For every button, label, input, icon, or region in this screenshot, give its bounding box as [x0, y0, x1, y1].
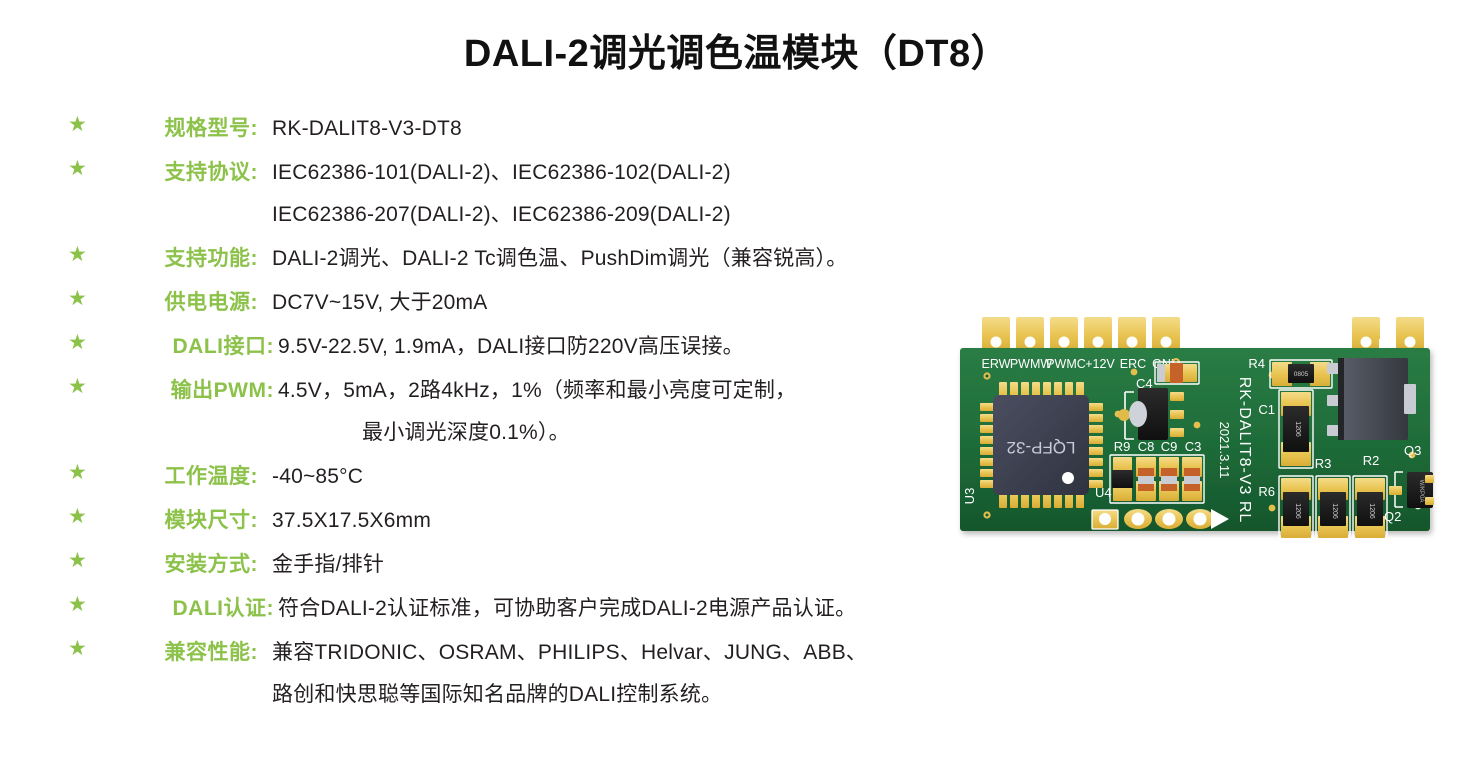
spec-value: 符合DALI-2认证标准，可协助客户完成DALI-2电源产品认证。	[274, 592, 968, 626]
spec-value-line: 37.5X17.5X6mm	[272, 504, 968, 538]
silk-board-date: 2021.3.11	[1217, 422, 1232, 479]
spec-value-line: 4.5V，5mA，2路4kHz，1%（频率和最小亮度可定制，	[278, 374, 968, 408]
pin-label-pwmc: PWMC	[1046, 357, 1086, 371]
star-bullet-icon: ★	[68, 286, 98, 309]
page-title: DALI-2调光调色温模块（DT8）	[0, 22, 1473, 77]
resistor-code-r3: 1206	[1331, 503, 1338, 519]
spec-row: ★供电电源:DC7V~15V, 大于20mA	[68, 286, 968, 320]
pcb-component-q2-sot23: W/KP0A	[1389, 472, 1434, 508]
star-bullet-icon: ★	[68, 112, 98, 135]
designator-r3: R3	[1315, 456, 1332, 471]
spec-value: 金手指/排针	[258, 548, 968, 582]
spec-row: ★安装方式:金手指/排针	[68, 548, 968, 582]
spec-label: 兼容性能:	[98, 636, 258, 670]
spec-label: 支持协议:	[98, 156, 258, 190]
spec-value: DALI-2调光、DALI-2 Tc调色温、PushDim调光（兼容锐高）。	[258, 242, 968, 276]
spec-value-line: IEC62386-101(DALI-2)、IEC62386-102(DALI-2…	[272, 156, 968, 190]
pcb-component-q3-relay	[1327, 358, 1416, 440]
star-bullet-icon: ★	[68, 330, 98, 353]
spec-label: 供电电源:	[98, 286, 258, 320]
spec-value-line: 兼容TRIDONIC、OSRAM、PHILIPS、Helvar、JUNG、ABB…	[272, 636, 968, 670]
pcb-product-image: ERW PWMW PWMC +12V ERC GND DA	[952, 300, 1438, 550]
star-bullet-icon: ★	[68, 156, 98, 179]
spec-row: ★规格型号:RK-DALIT8-V3-DT8	[68, 112, 968, 146]
pcb-component-c4-group	[1155, 362, 1199, 384]
spec-label: 工作温度:	[98, 460, 258, 494]
spec-value-line: IEC62386-207(DALI-2)、IEC62386-209(DALI-2…	[272, 198, 968, 232]
designator-r6: R6	[1258, 484, 1275, 499]
spec-row: ★支持功能:DALI-2调光、DALI-2 Tc调色温、PushDim调光（兼容…	[68, 242, 968, 276]
resistor-code-r4: 0805	[1294, 371, 1309, 378]
q2-part-marking: W/KP0A	[1418, 480, 1424, 503]
spec-value: -40~85°C	[258, 460, 968, 494]
specification-list: ★规格型号:RK-DALIT8-V3-DT8★支持协议:IEC62386-101…	[68, 112, 968, 722]
spec-value: 9.5V-22.5V, 1.9mA，DALI接口防220V高压误接。	[274, 330, 968, 364]
spec-label: 模块尺寸:	[98, 504, 258, 538]
designator-q2: Q2	[1384, 509, 1401, 524]
pad-label-da: DA	[1378, 336, 1396, 351]
designator-c1: C1	[1258, 402, 1275, 417]
designator-r2: R2	[1363, 453, 1380, 468]
pin-label-12v: +12V	[1085, 357, 1115, 371]
pcb-illustration: ERW PWMW PWMC +12V ERC GND DA	[952, 300, 1438, 550]
pcb-component-mcu-lqfp32: LQFP-32	[980, 382, 1103, 508]
spec-value-line: 金手指/排针	[272, 548, 968, 582]
spec-label: 安装方式:	[98, 548, 258, 582]
spec-value-line: RK-DALIT8-V3-DT8	[272, 112, 968, 146]
spec-label: 规格型号:	[98, 112, 258, 146]
spec-row: ★输出PWM:4.5V，5mA，2路4kHz，1%（频率和最小亮度可定制，最小调…	[68, 374, 968, 450]
spec-label: 支持功能:	[98, 242, 258, 276]
spec-value: IEC62386-101(DALI-2)、IEC62386-102(DALI-2…	[258, 156, 968, 232]
designator-c9: C9	[1161, 439, 1178, 454]
designator-u4: U4	[1095, 485, 1112, 500]
star-bullet-icon: ★	[68, 374, 98, 397]
spec-value-line: 9.5V-22.5V, 1.9mA，DALI接口防220V高压误接。	[278, 330, 968, 364]
spec-value-line: DALI-2调光、DALI-2 Tc调色温、PushDim调光（兼容锐高）。	[272, 242, 968, 276]
spec-label: 输出PWM:	[98, 374, 274, 408]
spec-row: ★DALI接口:9.5V-22.5V, 1.9mA，DALI接口防220V高压误…	[68, 330, 968, 364]
designator-u3: U3	[962, 488, 977, 505]
designator-r9: R9	[1114, 439, 1131, 454]
star-bullet-icon: ★	[68, 504, 98, 527]
designator-q3: Q3	[1404, 443, 1421, 458]
spec-label: DALI认证:	[98, 592, 274, 626]
spec-row: ★兼容性能:兼容TRIDONIC、OSRAM、PHILIPS、Helvar、JU…	[68, 636, 968, 712]
spec-value: 4.5V，5mA，2路4kHz，1%（频率和最小亮度可定制，最小调光深度0.1%…	[274, 374, 968, 450]
resistor-code-c1: 1206	[1294, 421, 1301, 437]
star-bullet-icon: ★	[68, 548, 98, 571]
spec-value: 兼容TRIDONIC、OSRAM、PHILIPS、Helvar、JUNG、ABB…	[258, 636, 968, 712]
designator-c8: C8	[1138, 439, 1155, 454]
spec-row: ★模块尺寸:37.5X17.5X6mm	[68, 504, 968, 538]
star-bullet-icon: ★	[68, 636, 98, 659]
pcb-component-resistor-bank: 1206 1206 1206	[1279, 476, 1387, 538]
spec-row: ★DALI认证:符合DALI-2认证标准，可协助客户完成DALI-2电源产品认证…	[68, 592, 968, 626]
spec-value-line: 最小调光深度0.1%）。	[278, 416, 968, 450]
spec-row: ★支持协议:IEC62386-101(DALI-2)、IEC62386-102(…	[68, 156, 968, 232]
designator-r4: R4	[1248, 356, 1265, 371]
resistor-code-r6: 1206	[1294, 503, 1301, 519]
star-bullet-icon: ★	[68, 242, 98, 265]
designator-c3: C3	[1185, 439, 1202, 454]
pin-label-erw: ERW	[982, 357, 1011, 371]
spec-value-line: DC7V~15V, 大于20mA	[272, 286, 968, 320]
star-bullet-icon: ★	[68, 592, 98, 615]
spec-label: DALI接口:	[98, 330, 274, 364]
mcu-part-label: LQFP-32	[1007, 438, 1076, 457]
spec-value-line: 路创和快思聪等国际知名品牌的DALI控制系统。	[272, 678, 968, 712]
spec-value: 37.5X17.5X6mm	[258, 504, 968, 538]
resistor-code-r2: 1206	[1368, 503, 1375, 519]
pcb-bottom-pads	[1092, 509, 1229, 529]
pcb-component-c1: 1206	[1279, 390, 1313, 468]
spec-value-line: 符合DALI-2认证标准，可协助客户完成DALI-2电源产品认证。	[278, 592, 968, 626]
spec-value: RK-DALIT8-V3-DT8	[258, 112, 968, 146]
spec-value: DC7V~15V, 大于20mA	[258, 286, 968, 320]
star-bullet-icon: ★	[68, 460, 98, 483]
silk-board-name: RK-DALIT8-V3 RL	[1236, 377, 1253, 524]
spec-row: ★工作温度:-40~85°C	[68, 460, 968, 494]
spec-value-line: -40~85°C	[272, 460, 968, 494]
